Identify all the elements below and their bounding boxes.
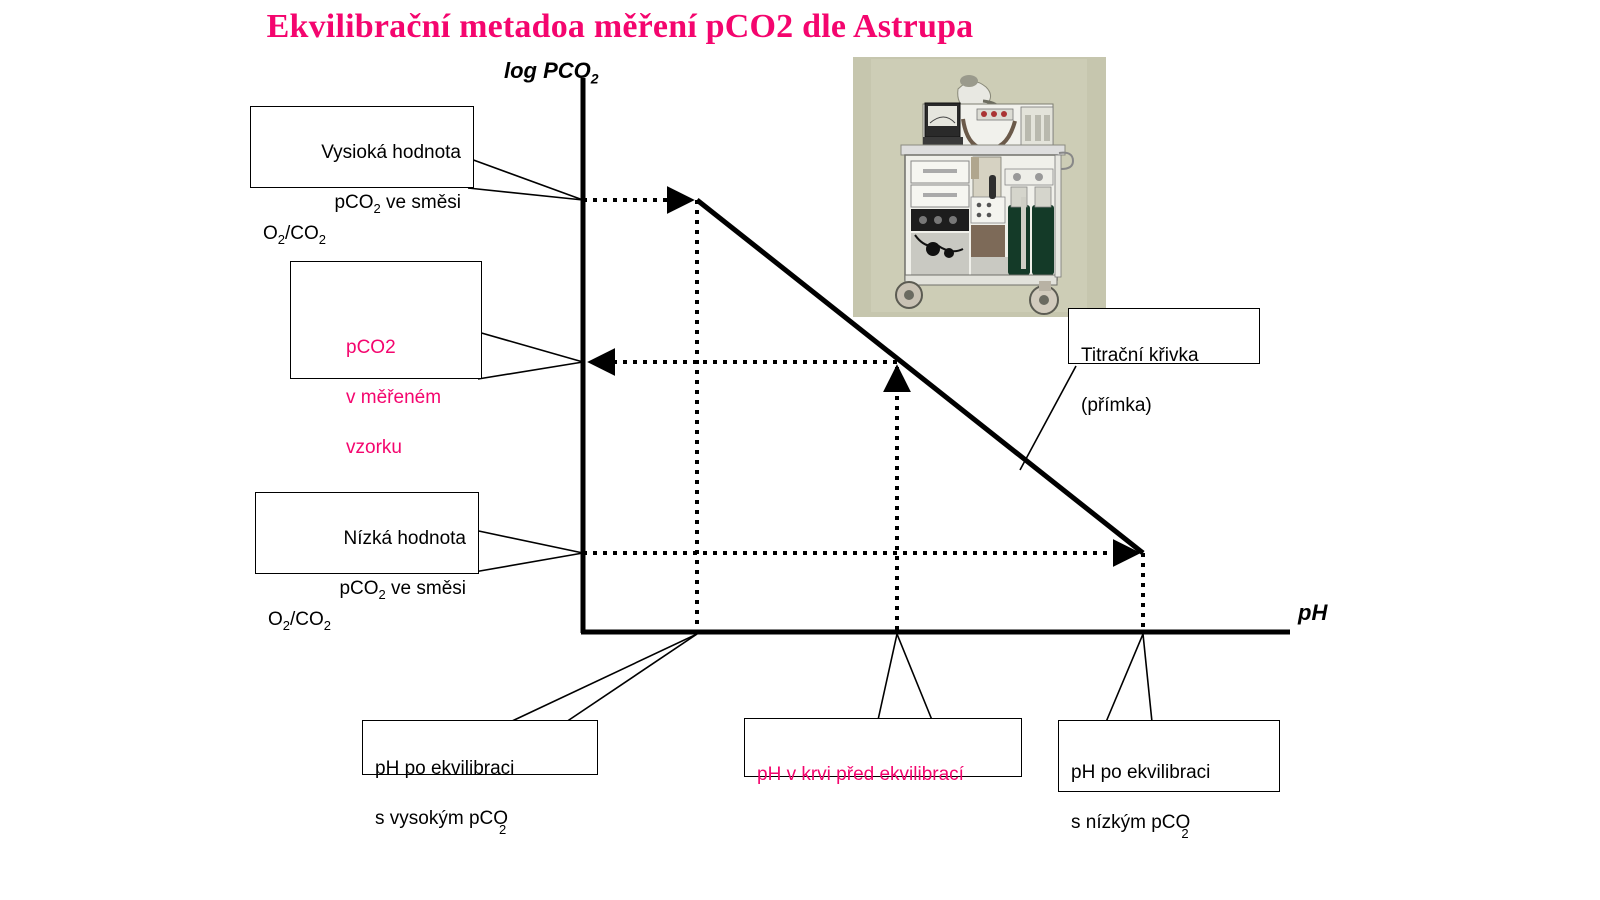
callout-low-pco2[interactable]: Nízká hodnota pCO2 ve směsi O2/CO2: [255, 492, 479, 574]
callout-low-pco2-line3-o: O: [268, 609, 283, 630]
callout-sample-pco2[interactable]: pCO2 v měřeném vzorku: [290, 261, 482, 379]
callout-high-pco2-line2: pCO: [334, 192, 373, 213]
callout-ph-after-low[interactable]: pH po ekvilibraci s nízkým pCO2: [1058, 720, 1280, 792]
callout-ph-after-high[interactable]: pH po ekvilibraci s vysokým pCO2: [362, 720, 598, 775]
callout-sample-pco2-line1: pCO2: [346, 337, 396, 358]
callout-low-pco2-line3-sub-a: 2: [283, 618, 290, 633]
callout-high-pco2-line2-sub: 2: [374, 201, 381, 216]
leader-titration: [1020, 366, 1076, 470]
callout-high-pco2-line3-sub-b: 2: [319, 232, 326, 247]
callout-ph-blood-line1: pH v krvi před ekvilibrací: [757, 764, 964, 785]
callout-high-pco2[interactable]: Vysioká hodnota pCO2 ve směsi O2/CO2: [250, 106, 474, 188]
leader-sample-a: [478, 332, 583, 362]
leader-low-a: [474, 530, 583, 553]
callout-low-pco2-line2-rest: ve směsi: [386, 578, 466, 599]
leader-ph-low-b: [1143, 634, 1152, 722]
callout-high-pco2-line3-mid: /CO: [285, 223, 319, 244]
leader-ph-high-a: [510, 634, 697, 722]
callout-low-pco2-line1: Nízká hodnota: [343, 528, 466, 549]
callout-low-pco2-line3: O2/CO2: [268, 607, 466, 638]
callout-low-pco2-line3-mid: /CO: [290, 609, 324, 630]
callout-sample-pco2-line3: vzorku: [346, 437, 402, 458]
titration-line: [697, 200, 1143, 553]
callout-low-pco2-line3-sub-b: 2: [324, 618, 331, 633]
leader-ph-blood-b: [897, 634, 932, 720]
callout-titration-line1: Titrační křivka: [1081, 345, 1199, 366]
callout-ph-after-low-line1: pH po ekvilibraci: [1071, 762, 1210, 783]
leader-low-b: [474, 553, 583, 572]
slide-canvas: Ekvilibrační metadoa měření pCO2 dle Ast…: [0, 0, 1600, 900]
callout-high-pco2-line1: Vysioká hodnota: [321, 142, 461, 163]
leader-ph-high-b: [566, 634, 697, 722]
callout-high-pco2-line3: O2/CO2: [263, 221, 461, 252]
callout-ph-after-high-line2-sub: 2: [499, 822, 506, 837]
callout-low-pco2-line2-sub: 2: [379, 587, 386, 602]
callout-sample-pco2-line2: v měřeném: [346, 387, 441, 408]
callout-titration-line2: (přímka): [1081, 395, 1152, 416]
leader-ph-low-a: [1106, 634, 1143, 722]
callout-high-pco2-line3-o: O: [263, 223, 278, 244]
callout-high-pco2-line2-rest: ve směsi: [381, 192, 461, 213]
callout-ph-after-low-line2-sub: 2: [1181, 826, 1188, 841]
leader-sample-b: [478, 362, 583, 379]
callout-ph-after-high-line1: pH po ekvilibraci: [375, 758, 514, 779]
callout-high-pco2-line3-sub-a: 2: [278, 232, 285, 247]
callout-ph-blood[interactable]: pH v krvi před ekvilibrací: [744, 718, 1022, 777]
callout-ph-after-low-line2: s nízkým pCO: [1071, 812, 1190, 833]
leader-ph-blood-a: [878, 634, 897, 720]
callout-low-pco2-line2: pCO: [339, 578, 378, 599]
callout-ph-after-high-line2: s vysokým pCO: [375, 808, 508, 829]
callout-titration-curve[interactable]: Titrační křivka (přímka): [1068, 308, 1260, 364]
